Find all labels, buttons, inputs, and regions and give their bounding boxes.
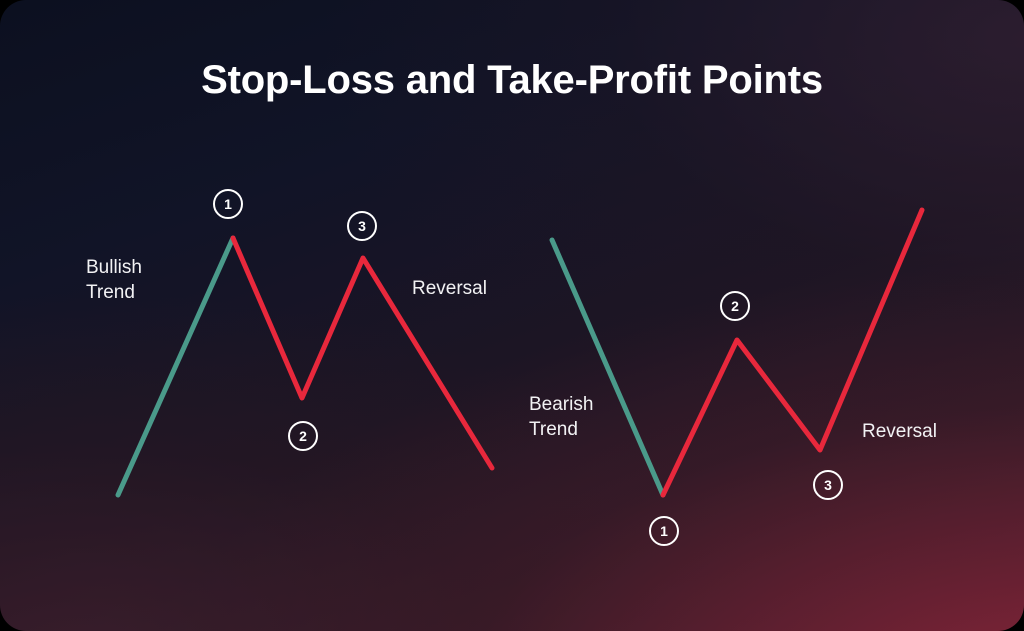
left-marker-3: 3 <box>347 211 377 241</box>
right-reversal-line <box>663 210 922 495</box>
bullish-trend-label: Bullish Trend <box>86 255 142 306</box>
left-marker-2: 2 <box>288 421 318 451</box>
right-marker-2: 2 <box>720 291 750 321</box>
right-marker-1: 1 <box>649 516 679 546</box>
price-action-chart <box>0 0 1024 631</box>
left-reversal-line <box>233 238 492 468</box>
right-marker-3: 3 <box>813 470 843 500</box>
infographic-canvas: Stop-Loss and Take-Profit Points Bullish… <box>0 0 1024 631</box>
left-reversal-label: Reversal <box>412 276 487 301</box>
right-reversal-label: Reversal <box>862 419 937 444</box>
bearish-trend-label: Bearish Trend <box>529 392 593 443</box>
left-marker-1: 1 <box>213 189 243 219</box>
bearish-trend-line <box>552 240 663 495</box>
